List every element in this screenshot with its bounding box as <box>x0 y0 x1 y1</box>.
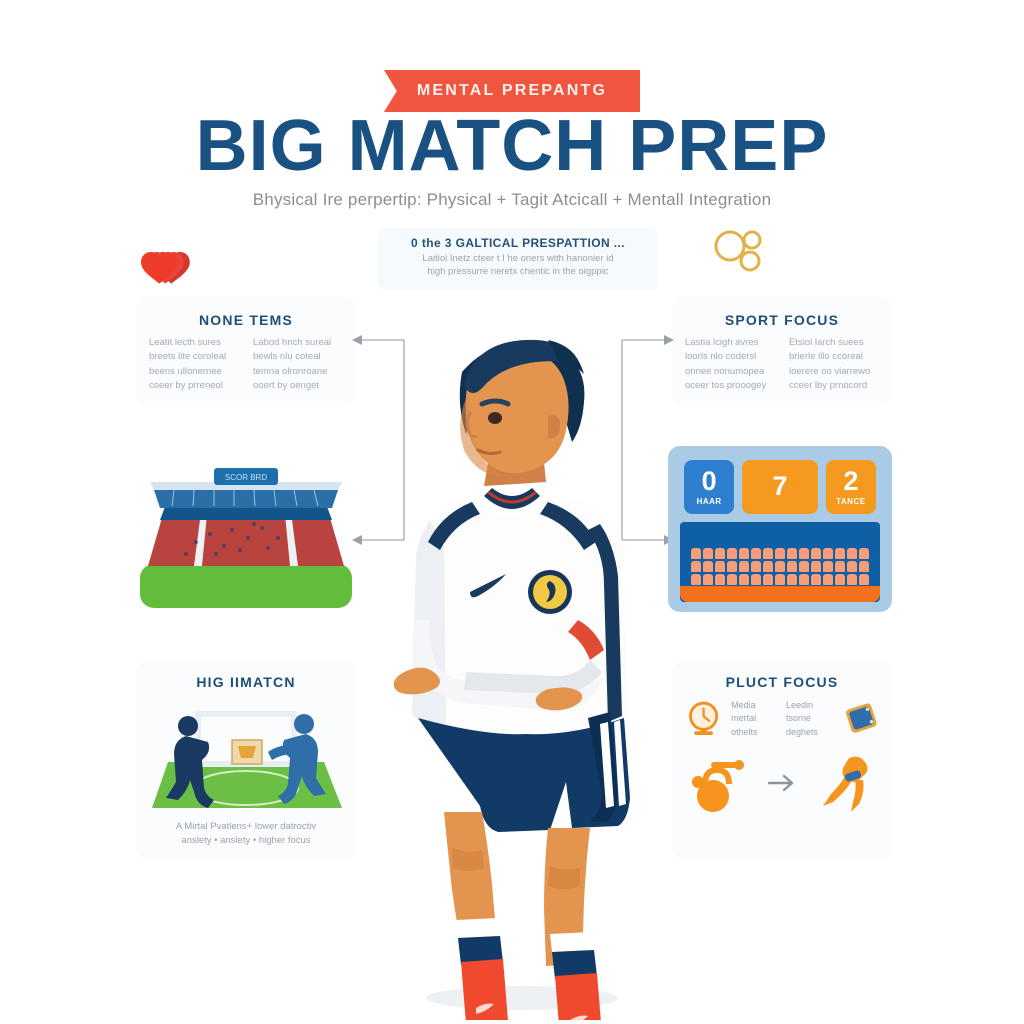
score-tile-3-value: 2 <box>843 468 858 495</box>
pitch-players-illustration <box>146 696 346 814</box>
score-tile-1-label: HAAR <box>697 497 722 506</box>
card-hig-imatcn-title: HIG IIMATCN <box>146 674 346 690</box>
card-none-tems-title: NONE TEMS <box>148 312 344 328</box>
stadium-illustration: SCOR BRD <box>136 446 356 612</box>
score-tile-3: 2 TANCE <box>826 460 876 514</box>
card-none-tems-col2: Labod hnch sureal bewls nlu coteal temna… <box>253 336 343 393</box>
card-hig-imatcn[interactable]: HIG IIMATCN A Mirtal Pvatlens+ lower dat… <box>136 660 356 860</box>
circles-icon <box>712 228 768 276</box>
tablet-icon <box>841 699 882 739</box>
card-none-tems-col1: Leatit lecth sures breets lite coroleal … <box>149 336 239 393</box>
pluct-focus-text-1: Media mertal othelts <box>731 699 780 738</box>
note-title: 0 the 3 GALTICAL PRESPATTION ... <box>388 236 648 250</box>
page-title: BIG MATCH PREP <box>0 110 1024 182</box>
center-note-box: 0 the 3 GALTICAL PRESPATTION ... Laitioi… <box>378 228 658 290</box>
seat-row <box>684 561 876 572</box>
score-tile-1-value: 0 <box>702 468 717 495</box>
seat-grid <box>684 548 876 586</box>
card-sport-focus-col2: Etsiol larch suees brierle illo ccoreal … <box>789 336 879 393</box>
scoreboard-stand <box>680 522 880 602</box>
score-tile-2: 7 <box>742 460 817 514</box>
pluct-focus-row-2 <box>682 752 882 814</box>
card-pluct-focus[interactable]: PLUCT FOCUS Media mertal othelts Leedin … <box>672 660 892 860</box>
pluct-focus-text-2: Leedin tsorne deghets <box>786 699 835 738</box>
clock-icon <box>682 696 725 742</box>
kettlebell-icon <box>685 752 749 814</box>
score-tile-2-value: 7 <box>772 473 787 500</box>
card-sport-focus-col1: Lastia lcigh avres loorls nlo codersl on… <box>685 336 775 393</box>
card-hig-imatcn-caption-1: A Mirtal Pvatlens+ lower datroctiv <box>146 820 346 834</box>
scoreboard-digits: 0 HAAR 7 2 TANCE <box>684 460 876 514</box>
page-subtitle: Bhysical Ire perpertip: Physical + Tagit… <box>0 190 1024 210</box>
card-sport-focus-title: SPORT FOCUS <box>684 312 880 328</box>
card-none-tems[interactable]: NONE TEMS Leatit lecth sures breets lite… <box>136 296 356 406</box>
score-tile-3-label: TANCE <box>836 497 865 506</box>
note-line-1: Laitioi Inetz cteer t I he oners with ha… <box>388 253 648 266</box>
arrow-right-icon <box>767 771 797 795</box>
player-illustration <box>352 320 672 1020</box>
note-line-2: high pressurre neretx chentic in the oig… <box>388 266 648 279</box>
infographic-canvas: MENTAL PREPANTG BIG MATCH PREP Bhysical … <box>0 0 1024 1024</box>
card-pluct-focus-title: PLUCT FOCUS <box>682 674 882 690</box>
scoreboard-panel: 0 HAAR 7 2 TANCE <box>668 446 892 612</box>
pluct-focus-row-1: Media mertal othelts Leedin tsorne deghe… <box>682 696 882 742</box>
seat-row <box>684 548 876 559</box>
card-sport-focus[interactable]: SPORT FOCUS Lastia lcigh avres loorls nl… <box>672 296 892 406</box>
card-hig-imatcn-caption-2: anslety • anslety • higher focus <box>146 834 346 848</box>
hearts-icon <box>138 246 202 294</box>
stadium-sign-text: SCOR BRD <box>225 473 267 482</box>
whistle-icon <box>815 752 879 814</box>
ribbon-label: MENTAL PREPANTG <box>417 82 607 100</box>
scoreboard-base <box>680 586 880 602</box>
score-tile-1: 0 HAAR <box>684 460 734 514</box>
seat-row <box>684 574 876 585</box>
